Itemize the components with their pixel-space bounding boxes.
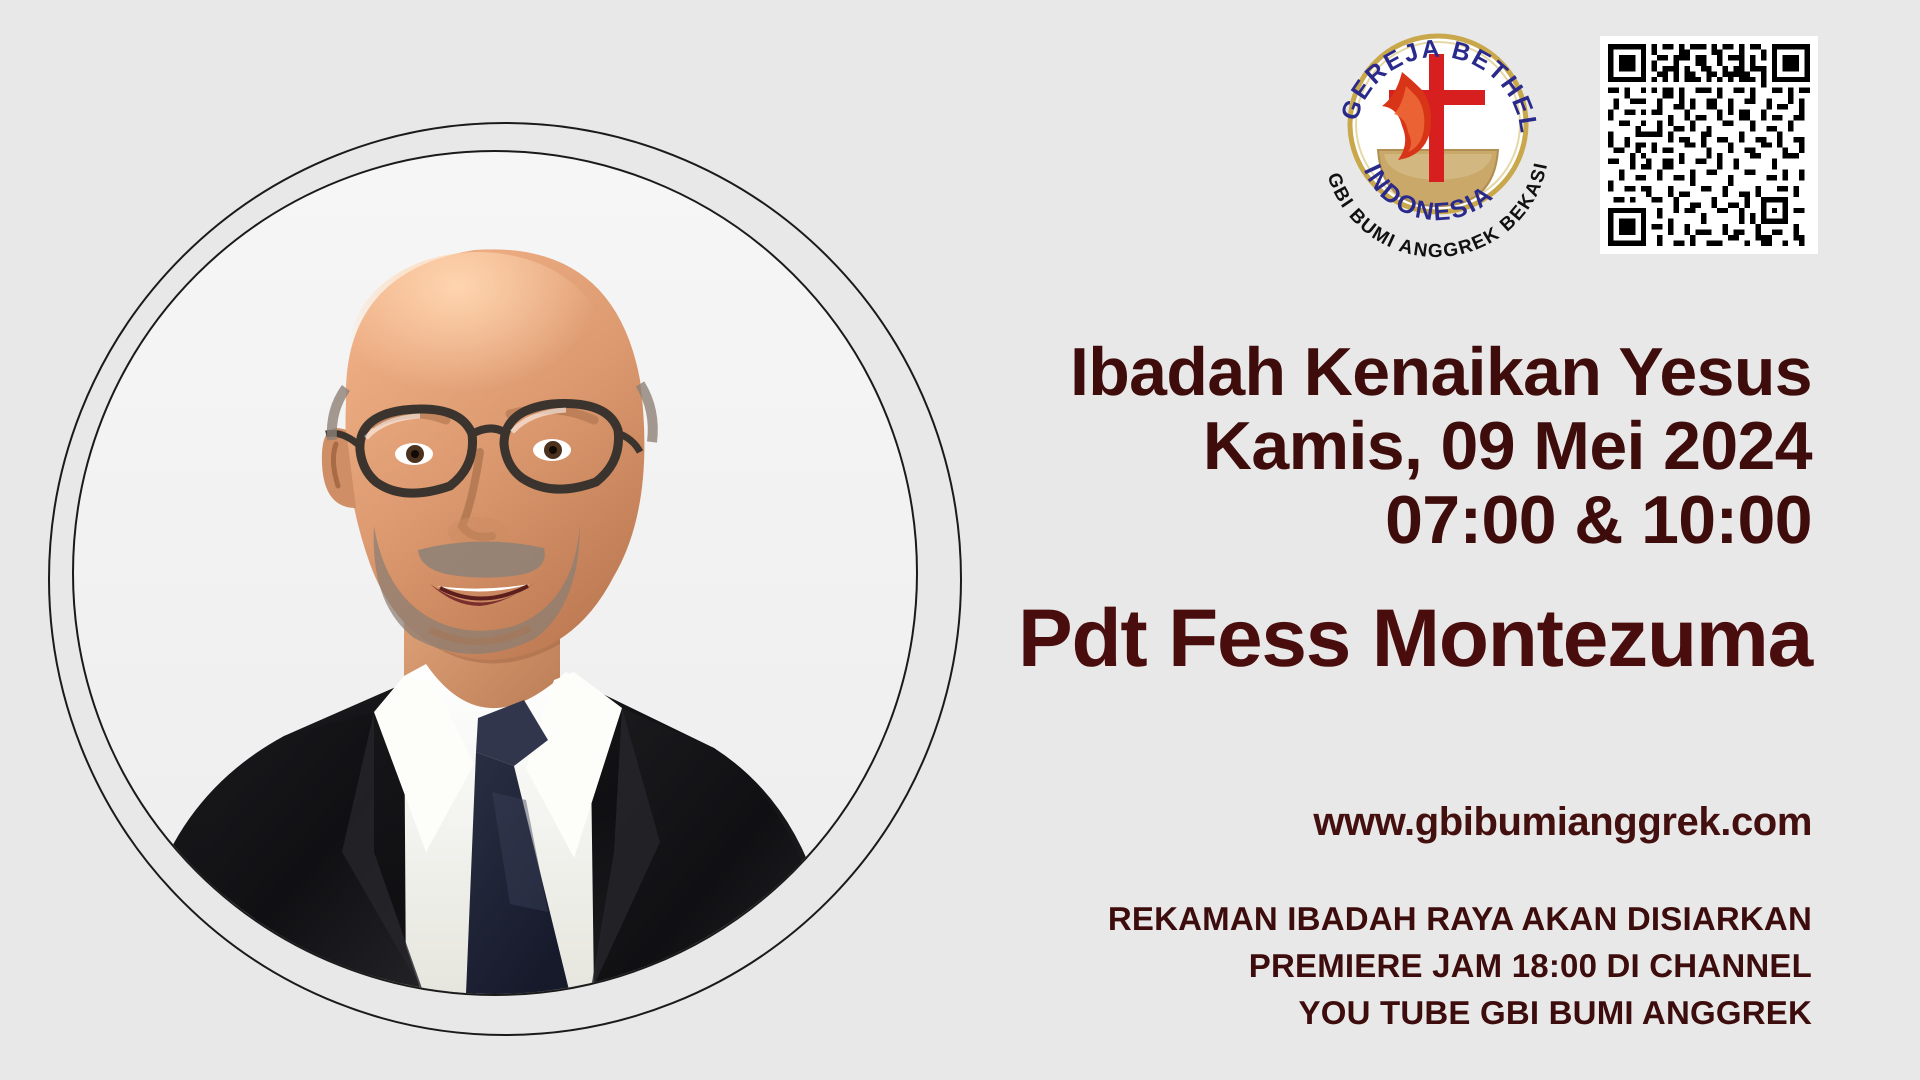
headline-line-2: Kamis, 09 Mei 2024 [1203,412,1812,480]
portrait-inner-ring [72,150,918,996]
text-column: Ibadah Kenaikan Yesus Kamis, 09 Mei 2024… [860,0,1812,1080]
website-url[interactable]: www.gbibumianggrek.com [1313,800,1812,845]
footer-line-3: YOU TUBE GBI BUMI ANGGREK [1299,994,1812,1032]
speaker-portrait [48,122,962,1036]
headline-line-3: 07:00 & 10:00 [1385,486,1812,554]
poster-canvas: GEREJA BETHEL INDONESIA GBI BUMI ANGGREK… [0,0,1920,1080]
speaker-name: Pdt Fess Montezuma [1018,592,1812,686]
footer-line-1: REKAMAN IBADAH RAYA AKAN DISIARKAN [1108,900,1812,938]
footer-line-2: PREMIERE JAM 18:00 DI CHANNEL [1249,947,1812,985]
headline-line-1: Ibadah Kenaikan Yesus [1070,338,1812,406]
